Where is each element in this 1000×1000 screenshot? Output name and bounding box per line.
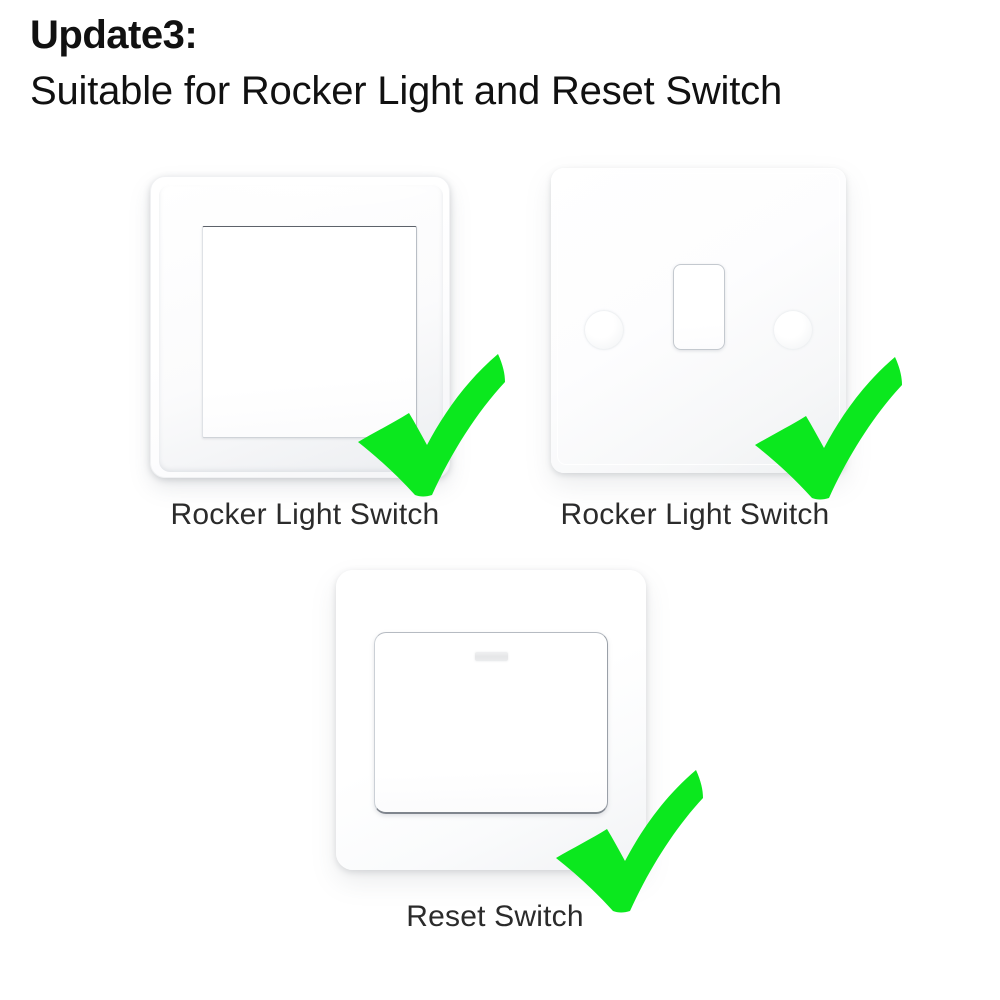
product-card-rocker-light-switch-flat[interactable]: Rocker Light Switch	[520, 160, 870, 500]
switch-bezel	[159, 184, 443, 472]
product-card-reset-switch[interactable]: Reset Switch	[320, 560, 670, 960]
led-indicator-icon	[475, 652, 508, 661]
switch-outer-frame	[150, 176, 450, 478]
rocker-button[interactable]	[202, 226, 417, 438]
switch-image-framed-rocker: Rocker Light Switch	[130, 160, 480, 500]
page-title: Update3:	[30, 14, 980, 57]
reset-rocker-button[interactable]	[374, 632, 608, 814]
rocker-toggle[interactable]	[673, 264, 725, 350]
product-card-rocker-light-switch-framed[interactable]: Rocker Light Switch	[130, 160, 480, 500]
switch-face-plate	[336, 570, 646, 870]
switch-image-flat-plate: Rocker Light Switch	[520, 160, 870, 500]
page-subtitle: Suitable for Rocker Light and Reset Swit…	[30, 66, 980, 116]
switch-image-reset: Reset Switch	[320, 560, 670, 960]
screw-cover-left-icon	[584, 310, 624, 350]
screw-cover-right-icon	[773, 310, 813, 350]
product-compatibility-page: Update3: Suitable for Rocker Light and R…	[0, 0, 1000, 1000]
product-caption: Rocker Light Switch	[520, 498, 870, 532]
product-caption: Rocker Light Switch	[130, 498, 480, 532]
product-caption: Reset Switch	[320, 900, 670, 934]
switch-face-plate	[551, 168, 846, 473]
page-heading: Update3: Suitable for Rocker Light and R…	[30, 14, 980, 116]
